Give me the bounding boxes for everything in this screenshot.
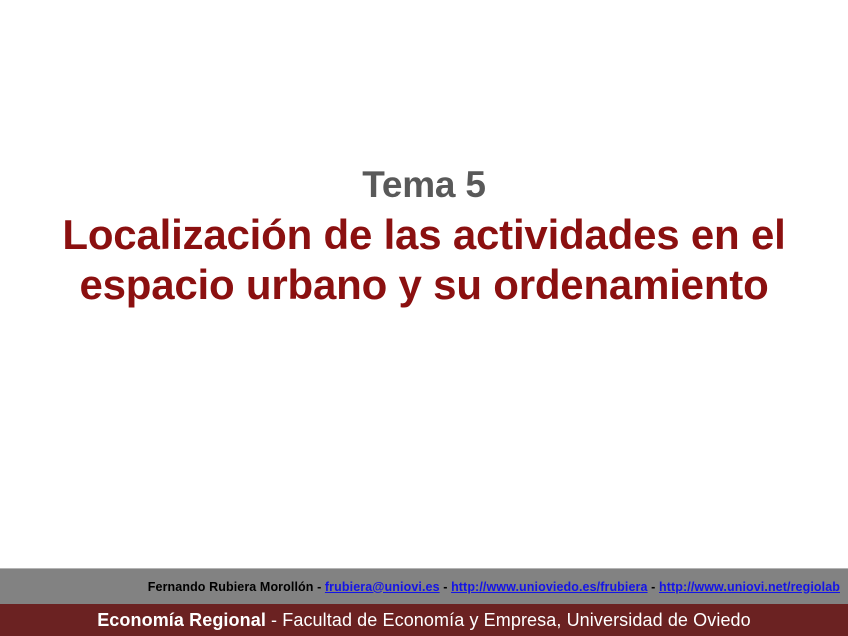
institution-footer-bar: Economía Regional - Facultad de Economía… — [0, 604, 848, 636]
author-name: Fernando Rubiera Morollón — [148, 580, 314, 594]
contact-separator-2: - — [440, 580, 451, 594]
institution-separator: - — [266, 610, 282, 630]
faculty-name: Facultad de Economía y Empresa, Universi… — [282, 610, 751, 630]
regiolab-website-link[interactable]: http://www.uniovi.net/regiolab — [659, 580, 840, 594]
slide-title-line-1: Localización de las actividades en el — [0, 210, 848, 260]
slide-title-line-2: espacio urbano y su ordenamiento — [0, 260, 848, 310]
contact-separator-3: - — [648, 580, 659, 594]
contact-separator-1: - — [314, 580, 325, 594]
institution-footer-text: Economía Regional - Facultad de Economía… — [97, 610, 751, 631]
contact-footer-text: Fernando Rubiera Morollón - frubiera@uni… — [148, 580, 840, 594]
personal-website-link[interactable]: http://www.unioviedo.es/frubiera — [451, 580, 648, 594]
contact-footer-bar: Fernando Rubiera Morollón - frubiera@uni… — [0, 568, 848, 604]
email-link[interactable]: frubiera@uniovi.es — [325, 580, 440, 594]
slide-subject-heading: Tema 5 — [0, 160, 848, 210]
title-block: Tema 5 Localización de las actividades e… — [0, 160, 848, 310]
presentation-slide: Tema 5 Localización de las actividades e… — [0, 0, 848, 636]
course-name: Economía Regional — [97, 610, 266, 630]
